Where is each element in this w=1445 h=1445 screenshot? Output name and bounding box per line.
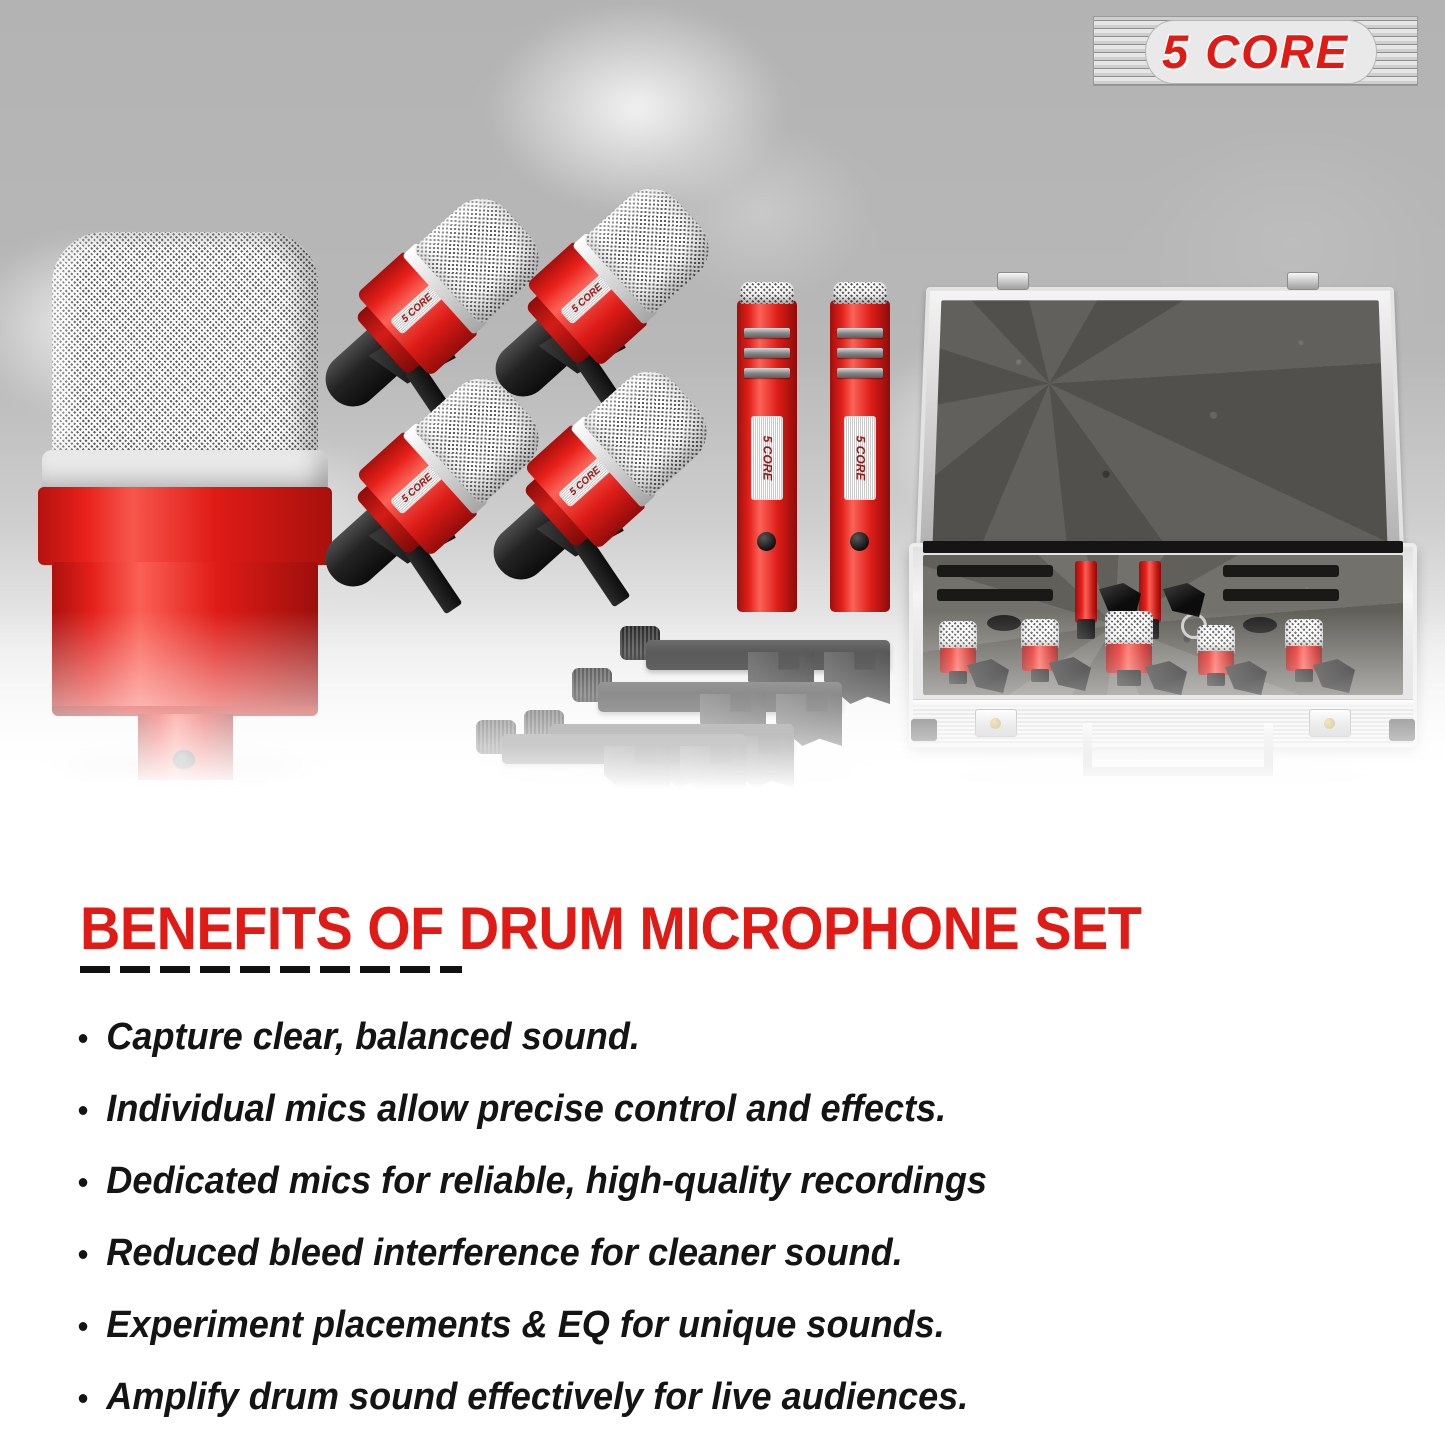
pencil-mic-vent bbox=[744, 328, 790, 338]
logo-text: 5 CORE bbox=[1093, 16, 1418, 86]
pencil-mic-cap bbox=[740, 282, 794, 304]
list-item: Experiment placements & EQ for unique so… bbox=[74, 1300, 1309, 1372]
kick-mic-band bbox=[38, 487, 332, 565]
list-item: Amplify drum sound effectively for live … bbox=[74, 1372, 1309, 1444]
hero-product-photo: 5 CORE ® 5 CORE 5 CORE bbox=[0, 0, 1445, 840]
pencil-mic-vent bbox=[837, 328, 883, 338]
pencil-mic-screw bbox=[850, 532, 869, 551]
list-item: Dedicated mics for reliable, high-qualit… bbox=[74, 1156, 1309, 1228]
case-hinge bbox=[997, 272, 1029, 290]
brand-badge-label: 5 CORE bbox=[760, 436, 774, 481]
brand-badge: 5 CORE bbox=[751, 416, 783, 500]
title-underline bbox=[80, 966, 462, 973]
product-infographic-page: 5 CORE ® 5 CORE 5 CORE bbox=[0, 0, 1445, 1445]
foam-slot bbox=[1223, 589, 1339, 601]
benefits-list: Capture clear, balanced sound. Individua… bbox=[74, 1012, 1374, 1444]
brand-badge: 5 CORE bbox=[844, 416, 876, 500]
case-hinge bbox=[1287, 272, 1319, 290]
page-title: BENEFITS OF DRUM MICROPHONE SET bbox=[80, 898, 1141, 960]
foam-slot bbox=[937, 565, 1053, 577]
pencil-condenser-microphone: 5 CORE bbox=[828, 282, 892, 612]
case-lid-foam bbox=[933, 300, 1388, 544]
list-item: Capture clear, balanced sound. bbox=[74, 1012, 1309, 1084]
kick-mic-grille bbox=[52, 232, 318, 462]
pencil-mic-screw bbox=[757, 532, 776, 551]
case-hinge-strip bbox=[923, 541, 1403, 553]
list-item: Reduced bleed interference for cleaner s… bbox=[74, 1228, 1309, 1300]
list-item: Individual mics allow precise control an… bbox=[74, 1084, 1309, 1156]
pencil-mic-vent bbox=[744, 368, 790, 378]
case-lid bbox=[916, 287, 1405, 561]
brand-logo: 5 CORE bbox=[1093, 16, 1418, 86]
brand-badge-label: 5 CORE bbox=[853, 436, 867, 481]
pencil-mic-cap bbox=[833, 282, 887, 304]
foam-slot bbox=[1223, 565, 1339, 577]
pencil-mic-vent bbox=[744, 348, 790, 358]
pencil-condenser-microphone: 5 CORE bbox=[735, 282, 799, 612]
pencil-mic-vent bbox=[837, 348, 883, 358]
hero-white-fade bbox=[0, 610, 1445, 840]
foam-slot bbox=[937, 589, 1053, 601]
pencil-mic-vent bbox=[837, 368, 883, 378]
